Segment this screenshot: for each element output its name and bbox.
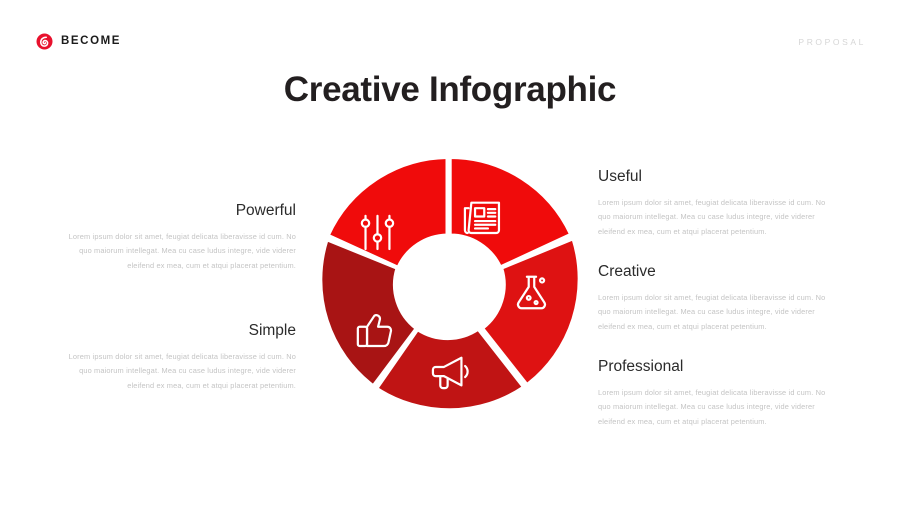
- info-heading-useful: Useful: [598, 168, 828, 187]
- proposal-label: PROPOSAL: [798, 38, 866, 47]
- info-heading-creative: Creative: [598, 263, 828, 282]
- info-block-professional: Professional Lorem ipsum dolor sit amet,…: [598, 358, 828, 430]
- brand-name: BECOME: [61, 36, 121, 48]
- become-circular-b-logo-icon: [36, 33, 53, 50]
- info-heading-powerful: Powerful: [66, 202, 296, 221]
- info-block-powerful: Powerful Lorem ipsum dolor sit amet, feu…: [66, 202, 296, 274]
- donut-chart: [312, 152, 587, 430]
- info-text-simple: Lorem ipsum dolor sit amet, feugiat deli…: [66, 350, 296, 394]
- info-text-useful: Lorem ipsum dolor sit amet, feugiat deli…: [598, 196, 828, 240]
- info-block-creative: Creative Lorem ipsum dolor sit amet, feu…: [598, 263, 828, 335]
- brand-logo[interactable]: BECOME: [36, 33, 121, 50]
- info-heading-simple: Simple: [66, 322, 296, 341]
- info-text-professional: Lorem ipsum dolor sit amet, feugiat deli…: [598, 386, 828, 430]
- info-text-creative: Lorem ipsum dolor sit amet, feugiat deli…: [598, 291, 828, 335]
- info-block-simple: Simple Lorem ipsum dolor sit amet, feugi…: [66, 322, 296, 394]
- page-header: BECOME PROPOSAL: [0, 0, 900, 72]
- info-block-useful: Useful Lorem ipsum dolor sit amet, feugi…: [598, 168, 828, 240]
- info-heading-professional: Professional: [598, 358, 828, 377]
- page-title: Creative Infographic: [0, 68, 900, 112]
- info-text-powerful: Lorem ipsum dolor sit amet, feugiat deli…: [66, 230, 296, 274]
